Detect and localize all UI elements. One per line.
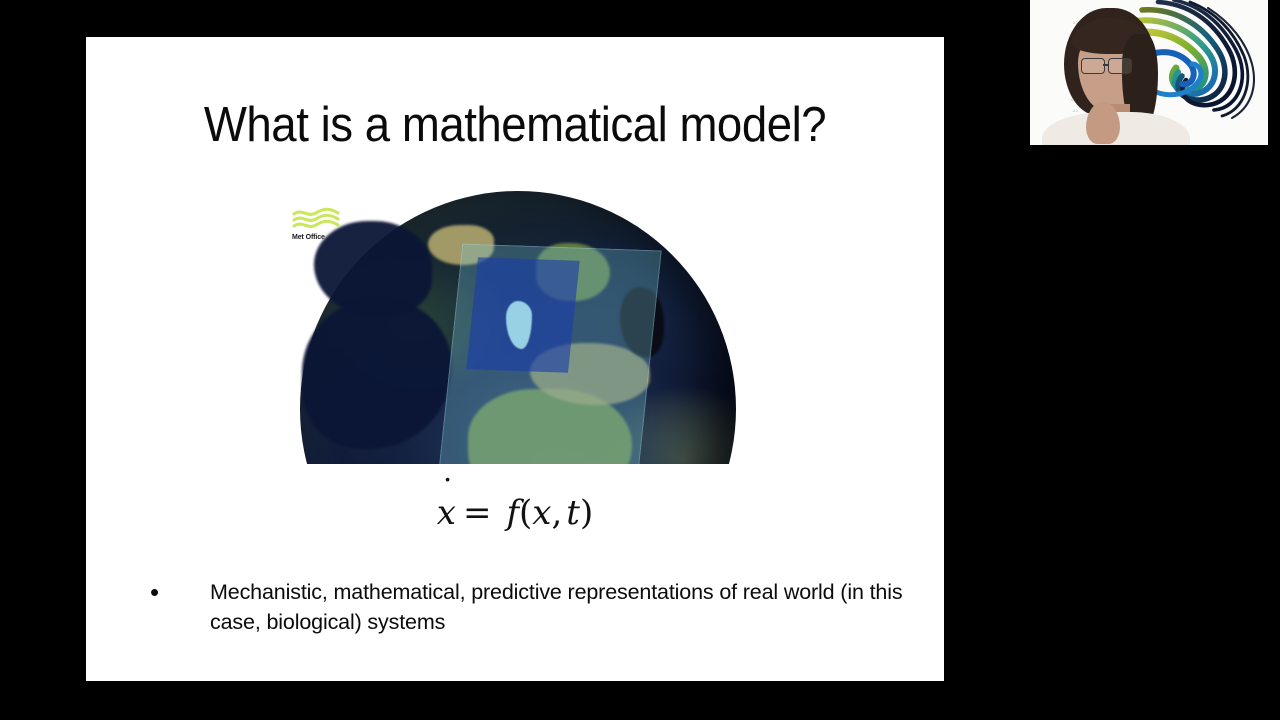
equation-comma: , [551, 493, 566, 533]
slide-bullet-list: • Mechanistic, mathematical, predictive … [138, 577, 928, 637]
list-item: • Mechanistic, mathematical, predictive … [138, 577, 928, 637]
model-equation: x=f(x,t) [86, 493, 944, 533]
equation-paren-open: ( [519, 493, 532, 533]
met-office-logo-text: Met Office [292, 234, 348, 242]
webcam-video-tile[interactable]: 0.2 0.15 0.1 0.05 0 -0.05 -0.1 -0.15 -0.… [1030, 0, 1268, 145]
equation-arg-t: t [566, 493, 580, 533]
bullet-marker-icon: • [138, 577, 210, 607]
avatar-glasses-left [1081, 58, 1105, 74]
land-atlantic-shadow [302, 299, 452, 449]
equation-operator: = [456, 493, 499, 533]
equation-lhs: x [437, 493, 456, 533]
avatar-glasses-bridge [1103, 64, 1109, 66]
equation-function: f [498, 493, 519, 533]
globe-figure [300, 191, 736, 464]
met-office-logo: Met Office [292, 207, 348, 249]
avatar-hand [1086, 102, 1120, 144]
screen-share-stage: What is a mathematical model? [0, 0, 1280, 720]
globe-sphere [300, 191, 736, 464]
participant-avatar [1048, 8, 1180, 145]
equation-arg-x: x [532, 493, 551, 533]
bullet-text: Mechanistic, mathematical, predictive re… [210, 577, 928, 637]
met-office-wave-icon [292, 207, 340, 233]
presentation-slide: What is a mathematical model? [86, 37, 944, 681]
avatar-glasses-right [1108, 58, 1132, 74]
slide-title: What is a mathematical model? [116, 97, 914, 153]
equation-paren-close: ) [580, 493, 593, 533]
